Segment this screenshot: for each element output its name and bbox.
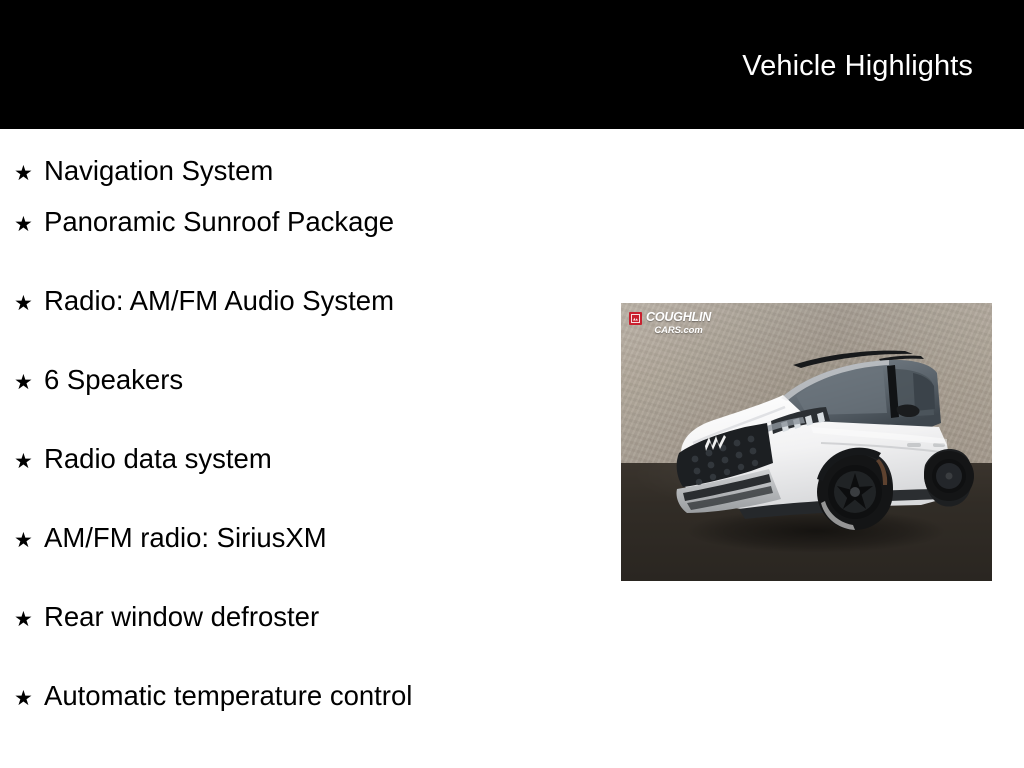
highlight-label: Automatic temperature control xyxy=(44,682,412,710)
highlight-label: Radio data system xyxy=(44,445,272,473)
list-item: ★ Rear window defroster xyxy=(0,603,600,682)
list-item: ★ Radio data system xyxy=(0,445,600,524)
star-icon: ★ xyxy=(14,606,44,634)
dealer-watermark: COUGHLIN CARS.com xyxy=(629,311,711,335)
list-item: ★ 6 Speakers xyxy=(0,366,600,445)
star-icon: ★ xyxy=(14,160,44,188)
suv-vehicle-illustration xyxy=(621,303,992,581)
list-item: ★ Automatic temperature control xyxy=(0,682,600,761)
watermark-line-1: COUGHLIN xyxy=(646,311,711,324)
highlight-label: Panoramic Sunroof Package xyxy=(44,208,394,236)
star-icon: ★ xyxy=(14,290,44,318)
page-header: Vehicle Highlights xyxy=(0,0,1024,129)
star-icon: ★ xyxy=(14,527,44,555)
watermark-text: COUGHLIN CARS.com xyxy=(646,311,711,335)
highlight-label: Rear window defroster xyxy=(44,603,319,631)
list-item: ★ Panoramic Sunroof Package xyxy=(0,208,600,287)
star-icon: ★ xyxy=(14,211,44,239)
list-item: ★ AM/FM radio: SiriusXM xyxy=(0,524,600,603)
star-icon: ★ xyxy=(14,685,44,713)
page-title: Vehicle Highlights xyxy=(742,49,973,83)
vehicle-highlights-list: ★ Navigation System ★ Panoramic Sunroof … xyxy=(0,129,600,761)
vehicle-photo[interactable]: COUGHLIN CARS.com xyxy=(621,303,992,581)
highlight-label: AM/FM radio: SiriusXM xyxy=(44,524,327,552)
highlight-label: 6 Speakers xyxy=(44,366,183,394)
watermark-line-2: CARS.com xyxy=(646,326,711,336)
list-item: ★ Navigation System xyxy=(0,129,600,208)
star-icon: ★ xyxy=(14,369,44,397)
coughlin-logo-icon xyxy=(629,312,642,325)
highlight-label: Navigation System xyxy=(44,157,273,185)
highlight-label: Radio: AM/FM Audio System xyxy=(44,287,394,315)
star-icon: ★ xyxy=(14,448,44,476)
list-item: ★ Radio: AM/FM Audio System xyxy=(0,287,600,366)
